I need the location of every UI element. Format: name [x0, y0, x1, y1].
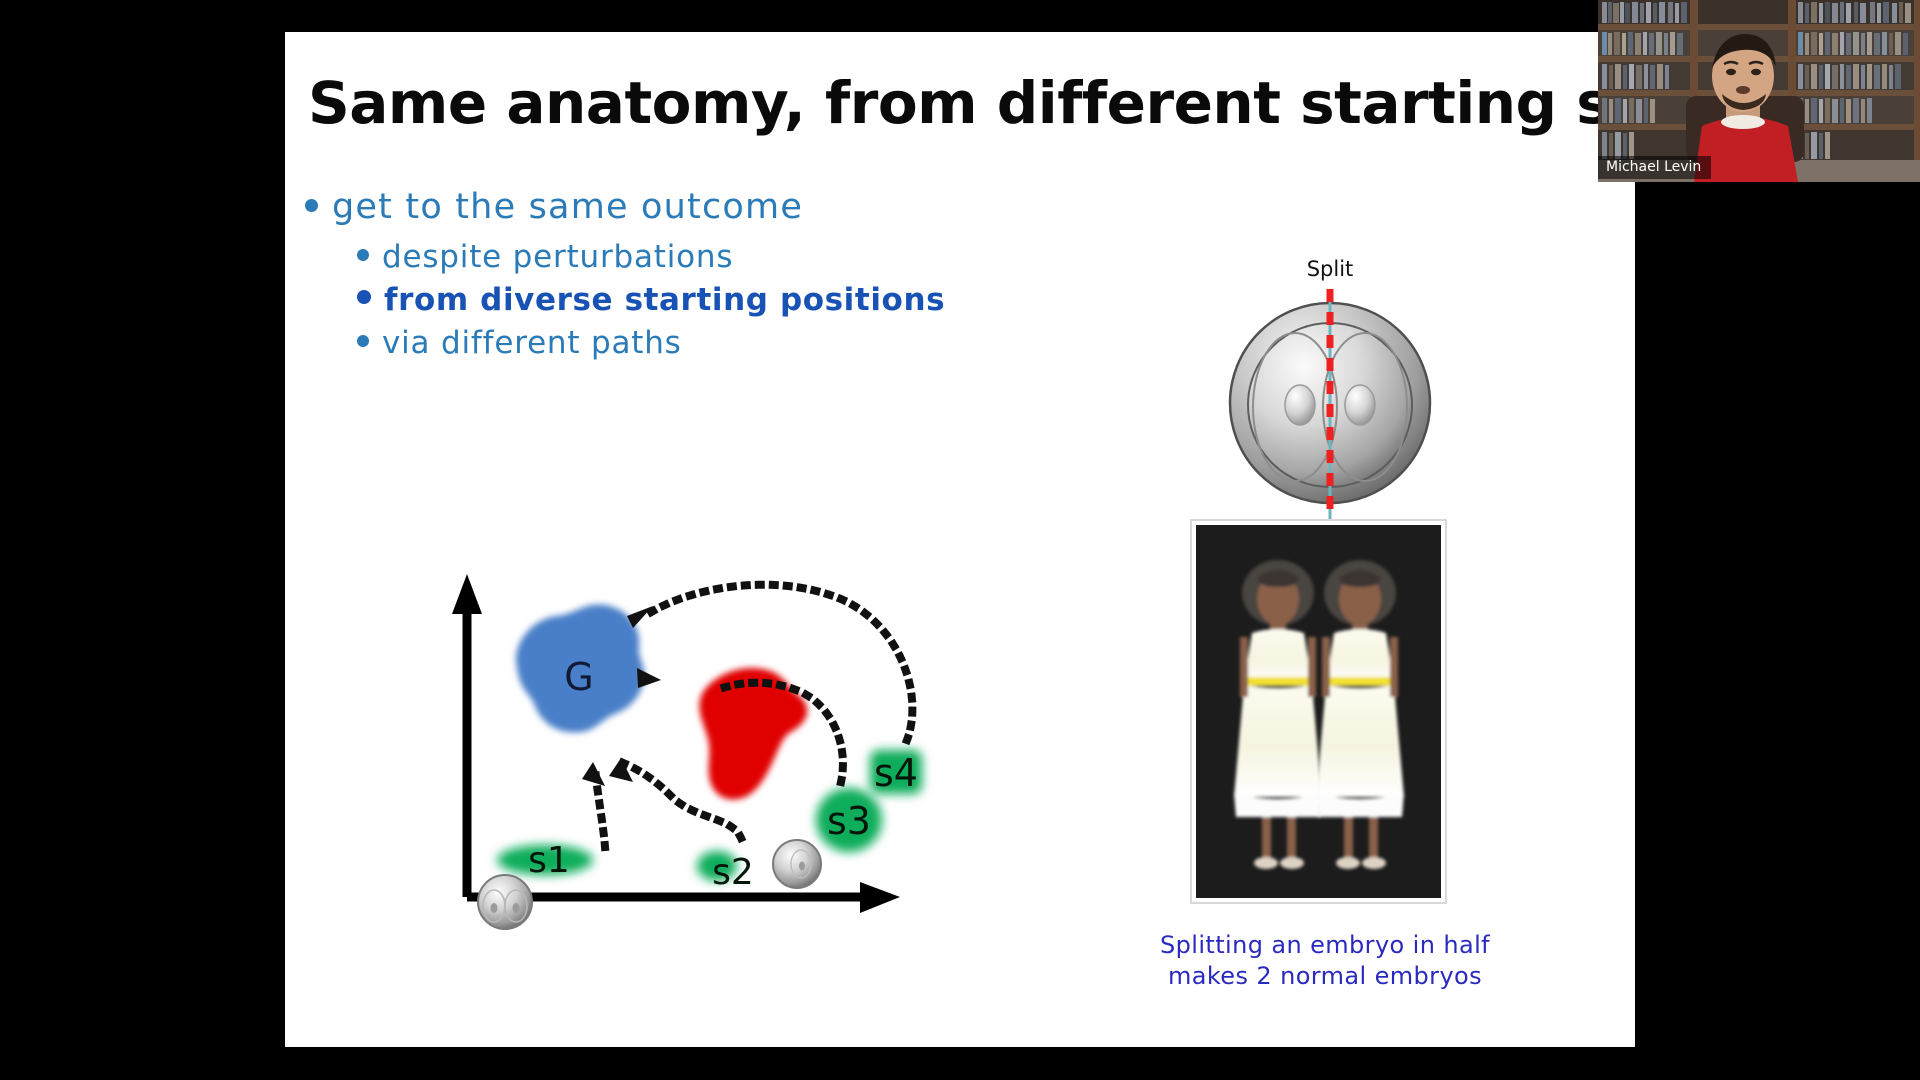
bullet-item-3: via different paths [357, 325, 1005, 361]
bullet-dot-icon [357, 249, 369, 261]
bullet-dot-icon [305, 199, 318, 212]
split-label: Split [1205, 257, 1455, 281]
bullet-label: via different paths [382, 325, 682, 361]
embryo-split-diagram: Split [1205, 257, 1455, 527]
caption-line-2: makes 2 normal embryos [1145, 961, 1505, 992]
presentation-screen: Same anatomy, from different starting st… [0, 0, 1920, 1080]
goal-label: G [564, 655, 593, 699]
bullet-item-1: despite perturbations [357, 239, 1005, 275]
embryo-sphere-origin [478, 875, 532, 929]
bullet-dot-icon [357, 335, 369, 347]
start-label-s4: s4 [874, 751, 918, 795]
bullet-dot-icon [357, 290, 371, 304]
video-feed [1598, 0, 1920, 182]
bullet-label-emphasized: from diverse starting positions [384, 282, 945, 318]
participant-video-tile[interactable]: Michael Levin [1598, 0, 1920, 182]
goal-attractor-blob: G [516, 605, 644, 733]
bullet-item-2: from diverse starting positions [357, 282, 1005, 318]
start-state-s4: s4 [870, 750, 922, 795]
embryo-sphere-s2 [773, 840, 821, 888]
photo-caption: Splitting an embryo in half makes 2 norm… [1145, 930, 1505, 991]
start-label-s2: s2 [712, 852, 754, 893]
bullet-item-0: get to the same outcome [305, 187, 1005, 227]
bullet-label: despite perturbations [382, 239, 733, 275]
participant-name-label: Michael Levin [1598, 156, 1711, 179]
twins-photograph [1190, 519, 1447, 904]
start-state-s3: s3 [816, 788, 882, 852]
bullet-list: get to the same outcome despite perturba… [305, 187, 1005, 368]
state-space-landscape-diagram: G s1 s2 s3 [445, 572, 945, 1002]
start-label-s1: s1 [528, 840, 570, 881]
caption-line-1: Splitting an embryo in half [1145, 930, 1505, 961]
start-label-s3: s3 [827, 799, 871, 843]
bullet-label: get to the same outcome [332, 187, 803, 227]
slide-canvas: Same anatomy, from different starting st… [285, 32, 1635, 1047]
start-state-s2: s2 [697, 851, 754, 893]
slide-title: Same anatomy, from different starting st… [308, 72, 1635, 136]
